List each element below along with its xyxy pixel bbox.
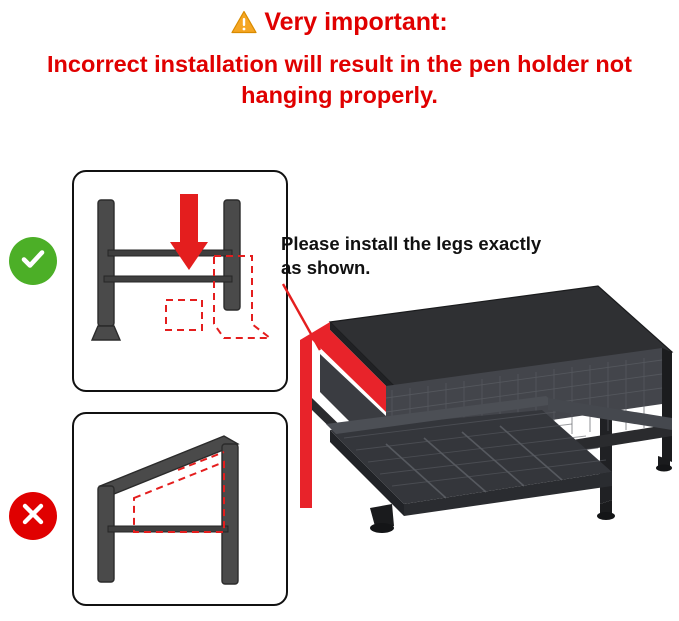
heading-line-2: Incorrect installation will result in th…: [0, 49, 679, 111]
warning-triangle-icon: [231, 10, 257, 42]
heading-line-1-text: Very important:: [264, 8, 447, 36]
correct-mark-badge: [9, 237, 57, 285]
heading-line-1: Very important:: [0, 6, 679, 42]
cross-mark-icon: [19, 500, 47, 533]
product-graphic: [300, 286, 672, 533]
incorrect-leg-drawing: [74, 414, 282, 600]
leader-line: [283, 284, 320, 350]
warning-heading: Very important: Incorrect installation w…: [0, 6, 679, 111]
check-mark-icon: [18, 244, 48, 279]
incorrect-mark-badge: [9, 492, 57, 540]
incorrect-leg-orientation-diagram: [72, 412, 288, 606]
correct-leg-drawing: [74, 172, 282, 386]
correct-leg-orientation-diagram: [72, 170, 288, 392]
down-arrow-icon: [170, 194, 208, 270]
callout-text: Please install the legs exactly as shown…: [281, 232, 551, 280]
